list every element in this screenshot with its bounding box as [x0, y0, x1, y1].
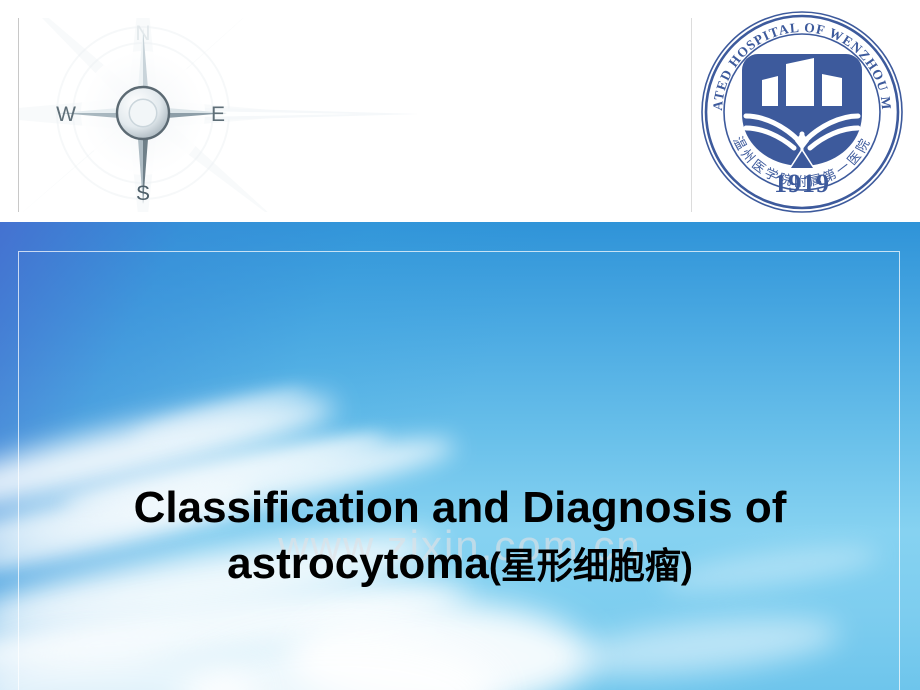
compass-label-south: S — [136, 182, 150, 205]
compass-label-west: W — [56, 103, 76, 126]
title-line-1: Classification and Diagnosis of — [40, 480, 880, 536]
slide-header: N E S W THE FIRST AFFILIATED HOSPITAL OF… — [0, 0, 920, 222]
seal-year: 1919 — [774, 169, 830, 198]
slide-body-sky: www.zixin.com.cn Classification and Diag… — [0, 222, 920, 690]
title-line-2: astrocytoma(星形细胞瘤) — [40, 536, 880, 592]
slide-title: Classification and Diagnosis of astrocyt… — [40, 480, 880, 593]
compass-image-frame: N E S W — [18, 18, 692, 212]
title-word-astrocytoma: astrocytoma — [227, 539, 489, 588]
title-slide: N E S W THE FIRST AFFILIATED HOSPITAL OF… — [0, 0, 920, 690]
title-chinese: (星形细胞瘤) — [489, 545, 693, 586]
cloud-streak — [558, 608, 842, 687]
hospital-seal-logo: THE FIRST AFFILIATED HOSPITAL OF WENZHOU… — [698, 8, 906, 216]
compass-rose-icon: N E S W — [19, 18, 439, 212]
compass-label-north: N — [135, 22, 150, 45]
compass-label-east: E — [211, 103, 225, 126]
